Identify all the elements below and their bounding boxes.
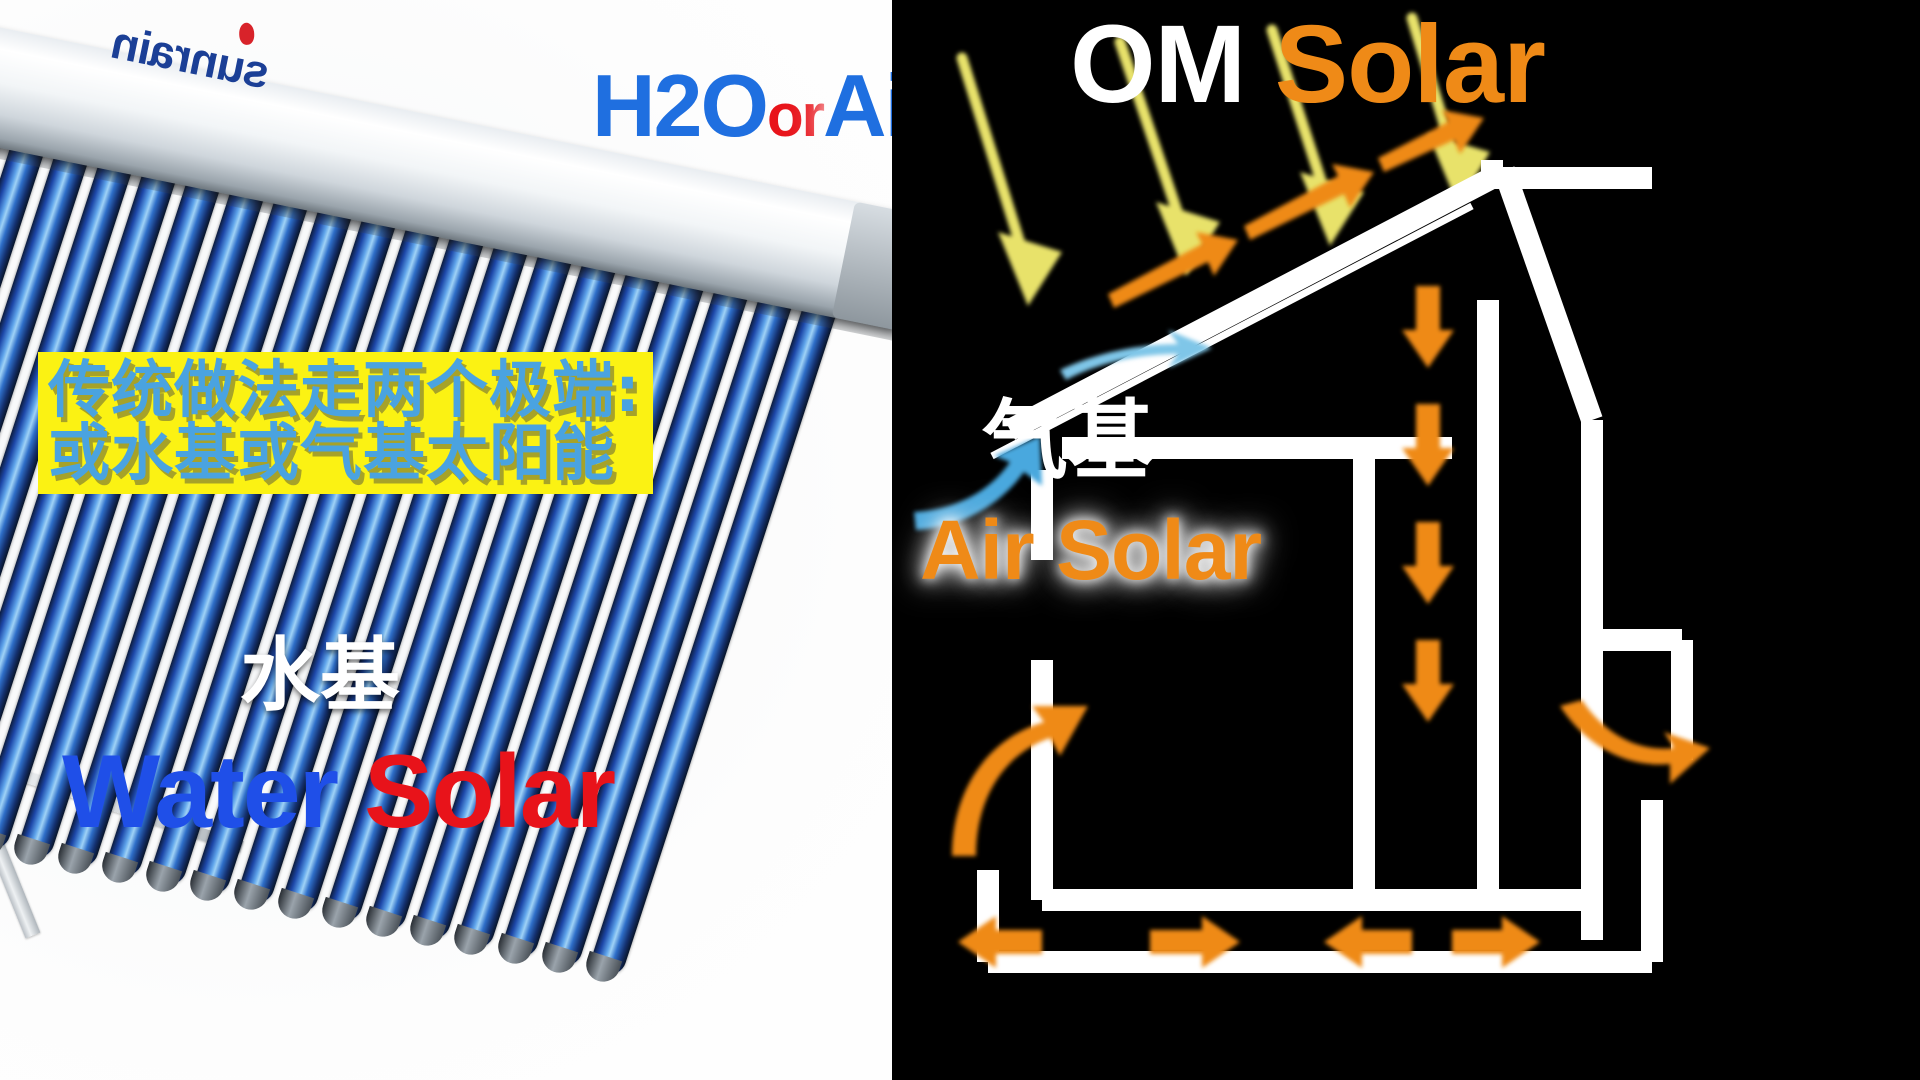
caption-word-water: Water (62, 734, 337, 850)
circ-arrow-room-curl (952, 706, 1088, 856)
right-gable (1504, 170, 1592, 420)
chinese-subtitle-line-1: 传统做法走两个极端: (48, 358, 641, 421)
circ-arrow-duct-1 (1402, 286, 1454, 368)
tank-end-cap (832, 202, 892, 332)
circ-arrow-duct-4 (1402, 640, 1454, 722)
sun-ray-arrow-1 (962, 58, 1062, 306)
caption-word-solar: Solar (364, 734, 614, 850)
chinese-subtitle-banner: 传统做法走两个极端: 或水基或气基太阳能 (38, 352, 653, 494)
caption-shuiji: 水基 (240, 636, 400, 716)
caption-qiji: 气基 (982, 398, 1154, 484)
headline-h2o: H2O (592, 56, 767, 155)
chinese-subtitle-line-2: 或水基或气基太阳能 (48, 421, 641, 484)
om-solar-diagram-panel: OM Solar 气基 Air Solar (892, 0, 1920, 1080)
headline-h2o-or-air: H2OorAir (592, 62, 892, 150)
caption-air-solar: Air Solar (920, 508, 1261, 592)
title-om-solar: OM Solar (1070, 10, 1545, 120)
caption-water-solar: Water Solar (62, 740, 614, 844)
circ-arrow-duct-3 (1402, 522, 1454, 604)
headline-air: Air (823, 56, 892, 155)
water-solar-photo-panel: sunrain H2OorAir 传统做法走两个极端: 或水基或气基太阳能 水基… (0, 0, 892, 1080)
title-om: OM (1070, 3, 1245, 126)
title-solar: Solar (1275, 3, 1545, 126)
screenshot-root: sunrain H2OorAir 传统做法走两个极端: 或水基或气基太阳能 水基… (0, 0, 1920, 1080)
headline-or: or (767, 82, 823, 149)
